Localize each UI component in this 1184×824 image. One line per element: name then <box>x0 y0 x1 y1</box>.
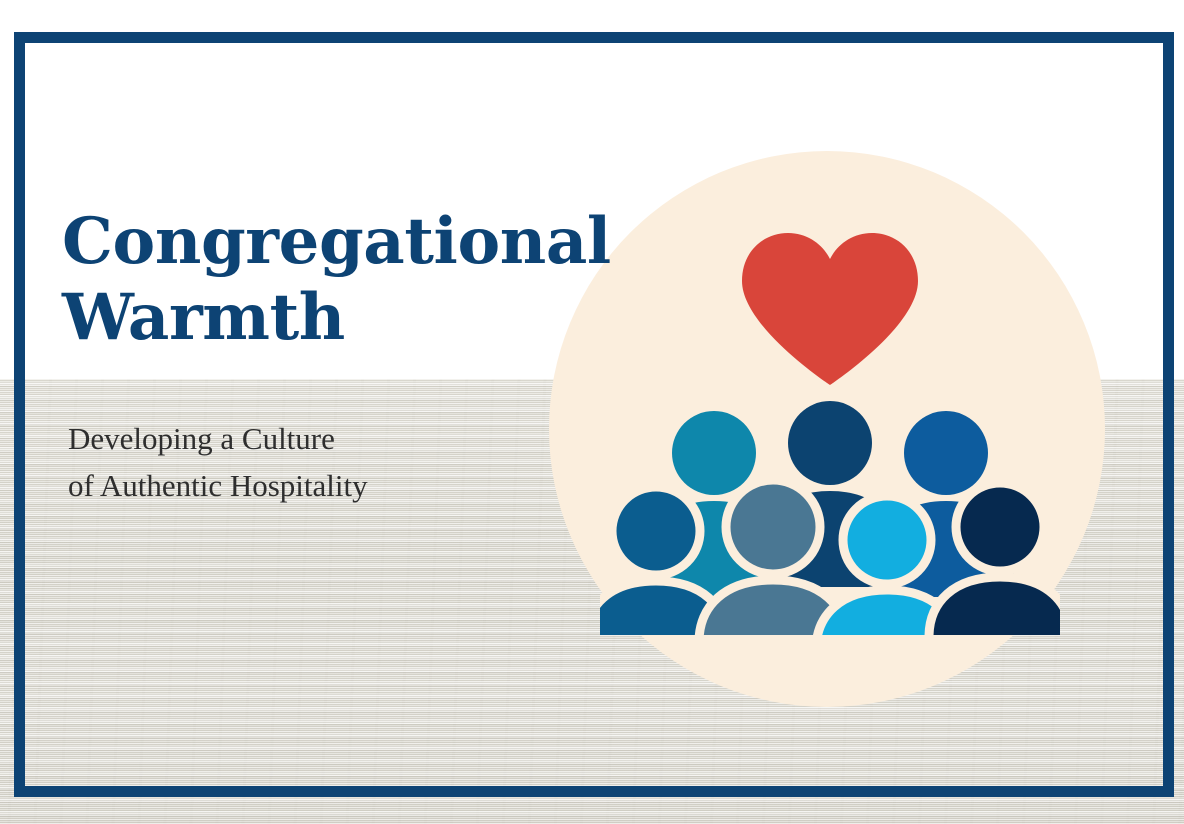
page-title: Congregational Warmth <box>62 204 592 355</box>
slide-canvas: Congregational Warmth Developing a Cultu… <box>0 0 1184 824</box>
slide-subtitle: Developing a Culture of Authentic Hospit… <box>68 415 592 509</box>
congregation-heart-illustration <box>600 215 1060 635</box>
heart-icon <box>742 233 918 385</box>
slide-text-block: Congregational Warmth Developing a Cultu… <box>62 204 592 509</box>
